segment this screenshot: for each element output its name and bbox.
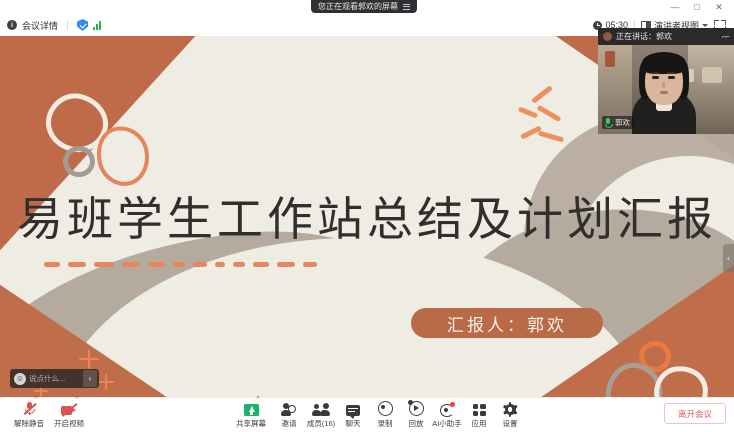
smiley-icon[interactable]: ☺	[14, 373, 26, 385]
playback-icon	[409, 401, 424, 416]
chevron-down-icon	[702, 24, 708, 27]
video-person-eye-right	[668, 76, 675, 79]
video-person-brow-right	[667, 72, 675, 74]
speaker-name-badge: 郭欢	[602, 116, 634, 129]
decor-star-1	[79, 349, 99, 369]
video-person-nose	[662, 82, 665, 88]
video-person-mouth	[660, 91, 668, 94]
zoom-meeting-window: 您正在观看郭欢的屏幕 — □ ✕ i 会议详情 05:30 演讲者视图	[0, 0, 734, 432]
toolbar-label-apps: 应用	[472, 418, 487, 429]
share-screen-icon: ^	[244, 401, 259, 416]
list-icon[interactable]	[403, 4, 410, 10]
decor-dash-row	[44, 258, 344, 272]
toolbar-label-chat: 聊天	[346, 418, 361, 429]
speaker-video: 郭欢	[598, 45, 734, 134]
meeting-toolbar: ^ 解除静音 ^ 开启视频 ^ 共享屏幕 邀请	[0, 397, 734, 432]
window-controls: — □ ✕	[664, 0, 730, 14]
collapse-corners-icon[interactable]: ⌐⌐	[722, 32, 729, 41]
decor-squiggles	[516, 86, 576, 148]
video-person-brow-left	[651, 72, 659, 74]
chevron-up-icon[interactable]: ^	[75, 396, 78, 403]
screen-share-notice: 您正在观看郭欢的屏幕	[311, 0, 417, 13]
maximize-button[interactable]: □	[686, 0, 708, 14]
video-object-right	[702, 67, 722, 83]
ai-assistant-icon	[440, 401, 454, 416]
speaker-name: 郭欢	[615, 117, 630, 128]
chevron-up-icon[interactable]: ^	[34, 396, 37, 403]
signal-bars-icon[interactable]	[93, 20, 101, 30]
chat-icon	[346, 401, 360, 416]
participants-icon	[313, 401, 329, 416]
avatar-icon	[603, 32, 612, 41]
camera-off-icon: ^	[61, 401, 78, 416]
toolbar-item-start-video[interactable]: ^ 开启视频	[46, 401, 92, 429]
toolbar-label-start-video: 开启视频	[54, 418, 84, 429]
video-object-left	[605, 51, 615, 67]
toolbar-label-unmute: 解除静音	[14, 418, 44, 429]
mic-on-icon	[604, 118, 612, 128]
mic-off-icon: ^	[23, 401, 36, 416]
close-button[interactable]: ✕	[708, 0, 730, 14]
invite-icon	[282, 401, 296, 416]
apps-icon	[473, 401, 486, 416]
speaker-thumbnail-header: 正在讲话：郭欢 ⌐⌐	[598, 28, 734, 45]
toolbar-label-share-screen: 共享屏幕	[236, 418, 266, 429]
shield-check-icon[interactable]	[77, 19, 88, 31]
presenter-pill: 汇报人：郭欢	[411, 308, 603, 338]
video-person-eye-left	[652, 76, 659, 79]
toolbar-label-settings: 设置	[503, 418, 518, 429]
chevron-up-icon[interactable]: ^	[256, 396, 259, 403]
toolbar-item-settings[interactable]: 设置	[487, 401, 533, 429]
decor-ring-gray-1	[63, 146, 95, 177]
screen-share-notice-text: 您正在观看郭欢的屏幕	[318, 1, 398, 12]
video-person-hair-top	[642, 52, 686, 74]
info-icon[interactable]: i	[7, 20, 17, 30]
record-icon	[378, 401, 393, 416]
header-left-group: i 会议详情	[0, 19, 101, 32]
chat-collapse-button[interactable]: ‹	[83, 370, 97, 387]
toolbar-label-playback: 回放	[409, 418, 424, 429]
minimize-button[interactable]: —	[664, 0, 686, 14]
leave-meeting-button[interactable]: 离开会议	[664, 403, 726, 424]
meeting-details-label[interactable]: 会议详情	[22, 19, 58, 32]
floating-chat-bar[interactable]: ☺ 说点什么... ‹	[10, 369, 99, 388]
toolbar-label-invite: 邀请	[282, 418, 297, 429]
side-panel-collapse-handle[interactable]: ‹	[723, 244, 734, 272]
slide-title: 易班学生工作站总结及计划汇报	[0, 196, 734, 242]
speaker-thumbnail[interactable]: 正在讲话：郭欢 ⌐⌐ 郭欢	[598, 28, 734, 134]
settings-icon	[504, 401, 517, 416]
header-divider	[67, 20, 68, 30]
chat-input-placeholder[interactable]: 说点什么...	[29, 373, 83, 384]
toolbar-label-record: 录制	[378, 418, 393, 429]
decor-star-2	[98, 374, 114, 390]
active-speaker-label: 正在讲话：郭欢	[616, 31, 672, 42]
